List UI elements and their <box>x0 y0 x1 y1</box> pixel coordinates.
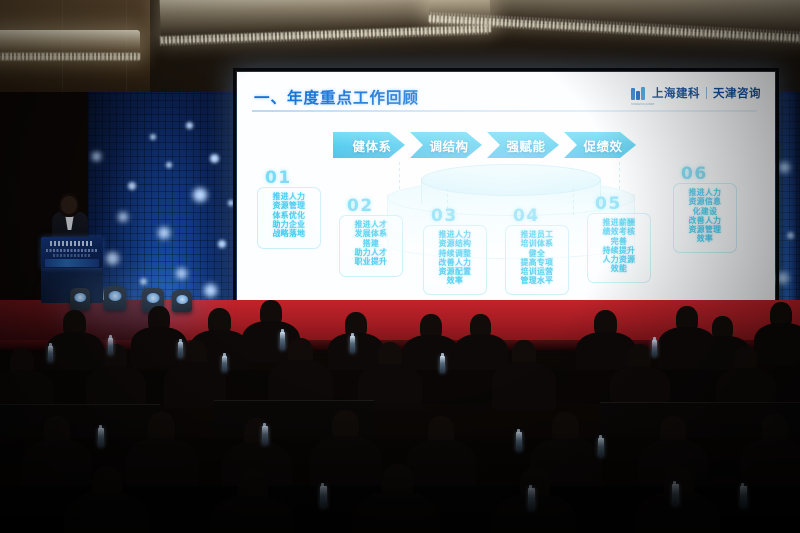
audience-shoulders <box>22 440 92 492</box>
water-bottle <box>320 486 327 508</box>
item-04-number: 04 <box>513 206 540 226</box>
arrow-flow: 健体系 调结构 强赋能 促绩效 <box>333 132 636 158</box>
item-02-card: 推进人才 发展体系 搭建 助力人才 职业提升 <box>339 215 403 277</box>
delegate-table <box>0 404 160 439</box>
chandelier-left-fringe <box>0 52 140 61</box>
podium-platform <box>421 164 601 196</box>
audience-shoulders <box>740 438 800 492</box>
logo-division-name: 天津咨询 <box>713 85 761 101</box>
logo-company-name: 上海建科 <box>652 85 700 101</box>
lectern-sign <box>41 237 103 268</box>
audience-shoulders <box>210 496 294 533</box>
item-06-card: 推进人力 资源信息 化建设 改善人力 资源管理 效率 <box>673 183 737 253</box>
logo-subtext: SHANGHAI JIANKE <box>631 103 654 106</box>
water-bottle <box>280 332 285 350</box>
water-bottle <box>48 346 53 362</box>
water-bottle <box>350 336 355 353</box>
arrow-step-4-label: 促绩效 <box>583 136 622 155</box>
item-04-card: 推进员工 培训体系 健全 提高专项 培训运营 管理水平 <box>505 225 569 295</box>
lectern-sign-line-1 <box>46 249 98 252</box>
presentation-slide: 一、年度重点工作回顾 SHANGHAI JIANKE 上海建科 天津咨询 <box>237 72 775 320</box>
water-bottle <box>178 342 183 358</box>
audience-shoulders <box>64 492 148 533</box>
slide-logo: SHANGHAI JIANKE 上海建科 天津咨询 <box>631 85 761 101</box>
arrow-step-2-label: 调结构 <box>429 136 468 155</box>
water-bottle <box>528 488 535 510</box>
water-bottle <box>652 340 657 357</box>
water-bottle <box>222 356 227 372</box>
slide-title: 一、年度重点工作回顾 <box>254 86 419 108</box>
water-bottle <box>740 486 747 508</box>
item-05-text: 推进薪酬 绩效考核 完善 持续提升 人力资源 效能 <box>593 218 645 274</box>
title-divider <box>252 110 757 112</box>
water-bottle <box>672 484 679 506</box>
led-pixel-grid <box>88 92 237 304</box>
arrow-step-1: 健体系 <box>333 132 405 158</box>
item-05-number: 05 <box>595 194 622 214</box>
audience-area <box>0 300 800 533</box>
lectern-sign-logo <box>50 241 92 246</box>
led-wall-left <box>88 92 237 304</box>
arrow-step-4: 促绩效 <box>564 132 636 158</box>
water-bottle <box>98 428 104 447</box>
audience-shoulders <box>126 438 198 492</box>
water-bottle <box>440 356 445 373</box>
item-02-text: 推进人才 发展体系 搭建 助力人才 职业提升 <box>345 220 397 266</box>
lectern-sign-line-2 <box>53 254 91 257</box>
water-bottle <box>108 338 113 355</box>
audience-shoulders <box>492 362 556 410</box>
podium-tick <box>573 188 574 218</box>
arrow-step-1-label: 健体系 <box>352 136 391 155</box>
item-01-card: 推进人力 资源管理 体系优化 助力企业 战略落地 <box>257 187 321 249</box>
presenter-head <box>61 196 77 214</box>
arrow-step-3-label: 强赋能 <box>506 136 545 155</box>
conference-hall-photo: 一、年度重点工作回顾 SHANGHAI JIANKE 上海建科 天津咨询 <box>0 0 800 533</box>
item-01-number: 01 <box>265 168 292 188</box>
water-bottle <box>516 432 522 451</box>
arrow-step-2: 调结构 <box>410 132 482 158</box>
item-04-text: 推进员工 培训体系 健全 提高专项 培训运营 管理水平 <box>511 230 563 286</box>
audience-shoulders <box>352 492 440 533</box>
building-logo-icon: SHANGHAI JIANKE <box>631 86 646 101</box>
led-wall-right <box>775 92 800 304</box>
item-06-number: 06 <box>681 164 708 184</box>
item-03-text: 推进人力 资源结构 持续调整 改善人力 资源配置 效率 <box>429 230 481 286</box>
podium-tick <box>399 162 400 192</box>
logo-separator <box>706 87 707 99</box>
item-02-number: 02 <box>347 196 374 216</box>
water-bottle <box>262 426 268 445</box>
arrow-step-3: 强赋能 <box>487 132 559 158</box>
audience-shoulders <box>46 332 104 374</box>
audience-shoulders <box>754 323 800 365</box>
lectern-sign-graphic <box>45 259 99 267</box>
podium-tick <box>619 162 620 192</box>
item-06-text: 推进人力 资源信息 化建设 改善人力 资源管理 效率 <box>679 188 731 244</box>
water-bottle <box>598 438 604 457</box>
item-03-card: 推进人力 资源结构 持续调整 改善人力 资源配置 效率 <box>423 225 487 295</box>
item-05-card: 推进薪酬 绩效考核 完善 持续提升 人力资源 效能 <box>587 213 651 283</box>
item-03-number: 03 <box>431 206 458 226</box>
audience-shoulders <box>406 440 476 492</box>
item-01-text: 推进人力 资源管理 体系优化 助力企业 战略落地 <box>263 192 315 238</box>
